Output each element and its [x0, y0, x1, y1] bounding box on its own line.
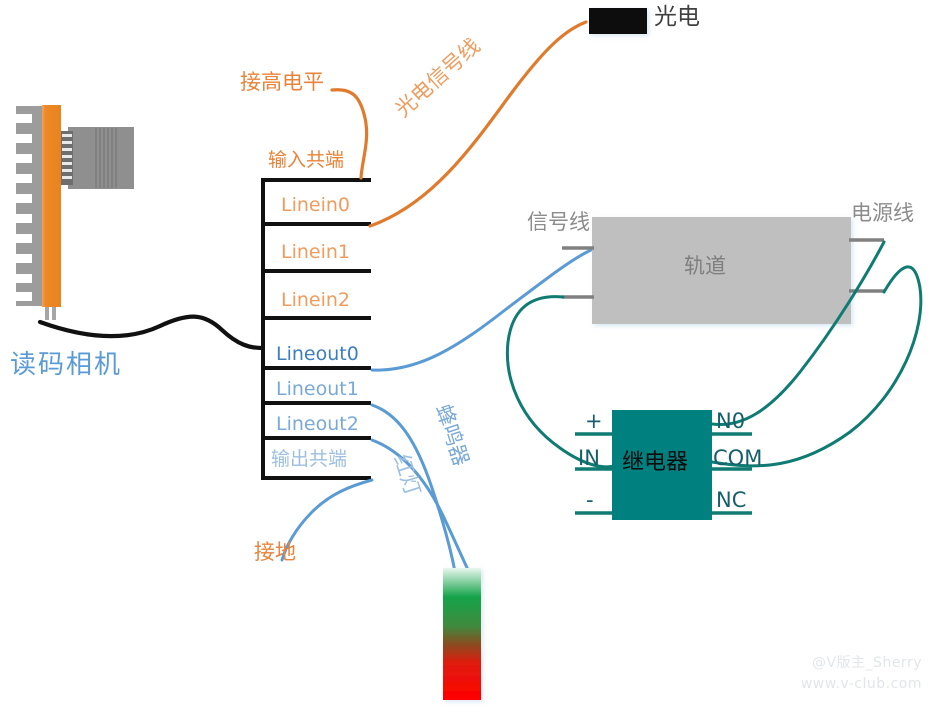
relay-label-minus: - — [586, 490, 594, 511]
relay-label-no: N0 — [716, 411, 745, 432]
terminal-label-linein1: Linein1 — [281, 243, 350, 262]
photoelectric-label: 光电 — [654, 6, 700, 29]
terminal-label-lineout0: Lineout0 — [276, 345, 359, 364]
stack-light-graphic — [443, 568, 481, 700]
camera-graphic — [16, 105, 262, 348]
terminal-label-linein0: Linein0 — [281, 196, 350, 215]
relay-label-in: IN — [578, 448, 600, 469]
terminal-label-input-common: 输入共端 — [268, 151, 344, 170]
terminal-label-linein2: Linein2 — [281, 291, 350, 310]
terminal-label-lineout2: Lineout2 — [276, 415, 359, 434]
track-label: 轨道 — [684, 256, 726, 277]
wiring-diagram-svg — [0, 0, 936, 706]
camera-label: 读码相机 — [10, 352, 122, 378]
watermark: @V版主_Sherry www.v-club.com — [801, 653, 922, 694]
relay-label-com: COM — [713, 448, 762, 469]
watermark-line2: www.v-club.com — [801, 674, 922, 694]
track-power-line-label: 电源线 — [851, 203, 914, 224]
terminal-label-output-common: 输出共端 — [271, 450, 347, 469]
relay-name-label: 继电器 — [622, 452, 688, 474]
relay-label-nc: NC — [716, 490, 746, 511]
watermark-line1: @V版主_Sherry — [801, 653, 922, 673]
track-signal-line-label: 信号线 — [527, 212, 590, 233]
diagram-canvas: 读码相机 光电 接高电平 光电信号线 接地 输入共端 Linein0 Linei… — [0, 0, 936, 706]
terminal-label-lineout1: Lineout1 — [276, 380, 359, 399]
relay-label-plus: + — [585, 411, 603, 432]
ground-annotation: 接地 — [254, 542, 296, 563]
high-level-annotation: 接高电平 — [240, 72, 324, 93]
wire-track-signal — [372, 250, 591, 370]
photoelectric-graphic — [589, 8, 647, 34]
